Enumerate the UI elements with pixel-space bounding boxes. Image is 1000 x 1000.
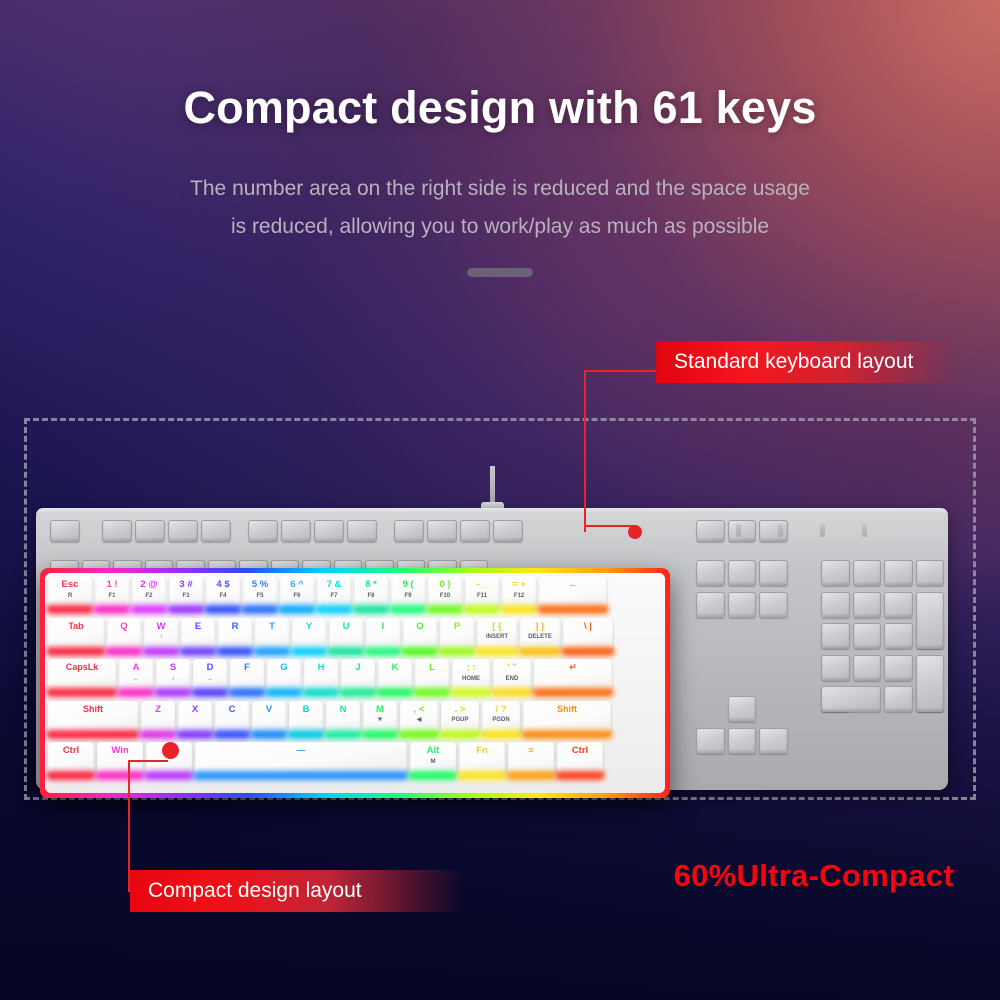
- key-legend: K: [392, 663, 399, 673]
- key-glow: [339, 688, 377, 697]
- fullsize-key-numpad: [821, 560, 850, 586]
- keycap-row-1: EscR1 !F12 @F23 #F34 $F45 %F56 ^F67 &F78…: [48, 576, 607, 610]
- key-sublegend: ↓: [172, 676, 175, 682]
- key-h[interactable]: H: [304, 659, 338, 693]
- fullsize-key-numpad-plus: [916, 592, 945, 650]
- key-glow: [315, 605, 353, 614]
- key-glow: [413, 688, 451, 697]
- key-sublegend: HOME: [462, 676, 480, 682]
- key-glow: [265, 688, 303, 697]
- fullsize-key-numpad-zero: [821, 686, 881, 712]
- key-legend: O: [416, 622, 423, 632]
- key-t[interactable]: T: [255, 618, 289, 652]
- key-glow: [130, 605, 168, 614]
- key-n[interactable]: N: [326, 701, 360, 735]
- key-[interactable]: —: [195, 742, 407, 776]
- key-6[interactable]: 6 ^F6: [280, 576, 314, 610]
- key-glow: [401, 647, 439, 656]
- key-glow: [105, 647, 143, 656]
- key-glow: [361, 730, 399, 739]
- key-shift[interactable]: Shift: [48, 701, 138, 735]
- key-sublegend: END: [506, 676, 519, 682]
- callout-compact-layout: Compact design layout: [130, 870, 462, 912]
- key-glow: [398, 730, 440, 739]
- key-legend: Fn: [476, 746, 488, 756]
- key-legend: U: [343, 622, 350, 632]
- key-sublegend: F10: [440, 593, 450, 599]
- key-legend: Ctrl: [572, 746, 588, 756]
- key-legend: E: [195, 622, 201, 632]
- key-legend: L: [429, 663, 435, 673]
- key-v[interactable]: V: [252, 701, 286, 735]
- key-sublegend: INSERT: [486, 634, 508, 640]
- key-glow: [475, 647, 519, 656]
- key-u[interactable]: U: [329, 618, 363, 652]
- key-glow: [46, 730, 140, 739]
- fullsize-key-nav: [728, 592, 757, 618]
- key-[interactable]: ' "END: [493, 659, 531, 693]
- key-legend: 1 !: [106, 580, 117, 590]
- key-f[interactable]: F: [230, 659, 264, 693]
- fullsize-key-nav: [696, 520, 725, 542]
- key-s[interactable]: S↓: [156, 659, 190, 693]
- fullsize-key-nav: [696, 560, 725, 586]
- sixty-percent-keyboard: EscR1 !F12 @F23 #F34 $F45 %F56 ^F67 &F78…: [40, 568, 670, 798]
- key-sublegend: F5: [256, 593, 263, 599]
- fullsize-key-nav: [696, 592, 725, 618]
- key-legend: B: [303, 705, 310, 715]
- fullsize-key-nav: [728, 560, 757, 586]
- key-legend: Shift: [83, 705, 103, 714]
- key-glow: [426, 605, 464, 614]
- fullsize-keyboard-lip: [36, 508, 948, 515]
- fullsize-key-nav: [759, 520, 788, 542]
- key-ctrl[interactable]: Ctrl: [48, 742, 94, 776]
- key-glow: [457, 771, 507, 780]
- key-sublegend: DELETE: [528, 634, 552, 640]
- key-[interactable]: \ |: [563, 618, 613, 652]
- key-legend: W: [157, 622, 166, 632]
- page-subtitle: The number area on the right side is red…: [0, 170, 1000, 246]
- fullsize-indicator-led: [862, 524, 867, 537]
- key-[interactable]: - _F11: [465, 576, 499, 610]
- key-legend: - _: [476, 580, 487, 590]
- key-b[interactable]: B: [289, 701, 323, 735]
- key-9[interactable]: 9 (F9: [391, 576, 425, 610]
- key-glow: [389, 605, 427, 614]
- key-sublegend: →: [207, 676, 213, 682]
- fullsize-key-numpad-enter: [916, 655, 945, 713]
- key-legend: I: [382, 622, 385, 632]
- fullsize-key-numpad: [884, 623, 913, 649]
- key-glow: [46, 647, 106, 656]
- key-legend: Alt: [427, 746, 440, 756]
- key-glow: [518, 647, 562, 656]
- callout-standard-layout-label: Standard keyboard layout: [674, 350, 913, 374]
- key-sublegend: ◀: [417, 717, 422, 723]
- key-[interactable]: = +F12: [502, 576, 536, 610]
- key-glow: [555, 771, 605, 780]
- key-glow: [46, 688, 118, 697]
- key-sublegend: PGUP: [451, 717, 468, 723]
- key-legend: ≡: [528, 746, 534, 756]
- fullsize-indicator-led: [778, 524, 783, 537]
- key-legend: T: [269, 622, 275, 632]
- key-0[interactable]: 0 )F10: [428, 576, 462, 610]
- key-d[interactable]: D→: [193, 659, 227, 693]
- key-sublegend: F11: [477, 593, 487, 599]
- fullsize-key-function: [493, 520, 523, 542]
- key-legend: Shift: [557, 705, 577, 714]
- key-glow: [537, 605, 609, 614]
- fullsize-key-function: [248, 520, 278, 542]
- key-[interactable]: ←: [539, 576, 607, 610]
- key-4[interactable]: 4 $F4: [206, 576, 240, 610]
- key-legend: 6 ^: [290, 580, 303, 590]
- key-legend: 8 *: [365, 580, 377, 590]
- keycap-row-2: TabQW↑ERTYUIOP[ {INSERT] }DELETE\ |: [48, 618, 613, 652]
- key-glow: [352, 605, 390, 614]
- key-glow: [241, 605, 279, 614]
- fullsize-key-nav: [728, 520, 757, 542]
- key-3[interactable]: 3 #F3: [169, 576, 203, 610]
- fullsize-key-esc: [50, 520, 80, 542]
- key-legend: J: [355, 663, 360, 673]
- key-[interactable]: , <◀: [400, 701, 438, 735]
- callout-standard-layout: Standard keyboard layout: [656, 341, 958, 383]
- key-glow: [278, 605, 316, 614]
- key-legend: P: [454, 622, 460, 632]
- key-sublegend: F12: [514, 593, 524, 599]
- key-fn[interactable]: Fn: [459, 742, 505, 776]
- key-legend: 0 ): [439, 580, 450, 590]
- fullsize-key-numpad: [884, 655, 913, 681]
- key-legend: 5 %: [252, 580, 268, 590]
- key-glow: [142, 647, 180, 656]
- fullsize-indicator-led: [736, 524, 741, 537]
- key-glow: [450, 688, 492, 697]
- key-[interactable]: / ?PGDN: [482, 701, 520, 735]
- key-legend: N: [340, 705, 347, 715]
- key-glow: [290, 647, 328, 656]
- fullsize-key-numpad: [821, 623, 850, 649]
- key-glow: [204, 605, 242, 614]
- key-w[interactable]: W↑: [144, 618, 178, 652]
- key-legend: [ {: [492, 622, 502, 632]
- key-glow: [95, 771, 145, 780]
- key-glow: [93, 605, 131, 614]
- fullsize-key-arrow: [728, 728, 757, 754]
- header-divider: [467, 268, 533, 277]
- key-legend: —: [297, 746, 306, 755]
- key-glow: [179, 647, 217, 656]
- key-sublegend: F2: [145, 593, 152, 599]
- key-glow: [176, 730, 214, 739]
- fullsize-key-function: [135, 520, 165, 542]
- key-glow: [376, 688, 414, 697]
- key-capslk[interactable]: CapsLk: [48, 659, 116, 693]
- key-glow: [117, 688, 155, 697]
- key-legend: Tab: [68, 622, 83, 631]
- key-legend: Esc: [62, 580, 79, 590]
- key-glow: [324, 730, 362, 739]
- key-legend: C: [229, 705, 236, 715]
- key-ctrl[interactable]: Ctrl: [557, 742, 603, 776]
- bottom-callout-leader-stub: [128, 760, 168, 762]
- key-win[interactable]: Win: [97, 742, 143, 776]
- fullsize-key-numpad: [916, 560, 945, 586]
- key-esc[interactable]: EscR: [48, 576, 92, 610]
- key-sublegend: F7: [330, 593, 337, 599]
- top-callout-dot: [628, 525, 642, 539]
- fullsize-key-numpad: [884, 560, 913, 586]
- key-m[interactable]: M☀: [363, 701, 397, 735]
- key-8[interactable]: 8 *F8: [354, 576, 388, 610]
- key-glow: [327, 647, 365, 656]
- key-glow: [213, 730, 251, 739]
- fullsize-key-function: [394, 520, 424, 542]
- key-legend: Q: [120, 622, 127, 632]
- key-glow: [521, 730, 613, 739]
- key-legend: R: [232, 622, 239, 632]
- top-callout-leader-vertical: [584, 370, 586, 532]
- key-legend: X: [192, 705, 198, 715]
- product-marketing-image: Compact design with 61 keys The number a…: [0, 0, 1000, 1000]
- key-a[interactable]: A←: [119, 659, 153, 693]
- fullsize-key-arrow: [696, 728, 725, 754]
- key-glow: [250, 730, 288, 739]
- key-[interactable]: [ {INSERT: [477, 618, 517, 652]
- page-title: Compact design with 61 keys: [0, 82, 1000, 134]
- fullsize-key-function: [314, 520, 344, 542]
- key-glow: [491, 688, 533, 697]
- key-legend: F: [244, 663, 250, 673]
- key-[interactable]: ; :HOME: [452, 659, 490, 693]
- key-j[interactable]: J: [341, 659, 375, 693]
- keycap-row-3: CapsLkA←S↓D→FGHJKL; :HOME' "END↵: [48, 659, 612, 693]
- key-legend: 2 @: [140, 580, 157, 590]
- fullsize-key-function: [168, 520, 198, 542]
- fullsize-key-nav: [759, 560, 788, 586]
- key-glow: [532, 688, 614, 697]
- key-legend: H: [318, 663, 325, 673]
- key-7[interactable]: 7 &F7: [317, 576, 351, 610]
- key-[interactable]: ≡: [508, 742, 554, 776]
- fullsize-key-function: [460, 520, 490, 542]
- key-legend: ←: [569, 580, 578, 589]
- key-glow: [154, 688, 192, 697]
- key-glow: [463, 605, 501, 614]
- key-legend: 4 $: [216, 580, 229, 590]
- key-glow: [408, 771, 458, 780]
- key-legend: = +: [512, 580, 526, 590]
- top-callout-leader-stub: [584, 525, 634, 527]
- key-legend: ↵: [569, 663, 577, 672]
- key-i[interactable]: I: [366, 618, 400, 652]
- fullsize-key-numpad: [821, 592, 850, 618]
- key-glow: [46, 605, 94, 614]
- key-legend: Z: [155, 705, 161, 715]
- fullsize-key-function: [281, 520, 311, 542]
- key-1[interactable]: 1 !F1: [95, 576, 129, 610]
- fullsize-key-numpad: [853, 655, 882, 681]
- key-glow: [144, 771, 194, 780]
- key-glow: [438, 647, 476, 656]
- key-glow: [167, 605, 205, 614]
- fullsize-key-function: [347, 520, 377, 542]
- keycap-row-4: ShiftZXCVBNM☀, <◀. >PGUP/ ?PGDNShift: [48, 701, 611, 735]
- key-legend: ] }: [535, 622, 545, 632]
- fullsize-key-nav: [759, 592, 788, 618]
- key-legend: 7 &: [327, 580, 342, 590]
- key-legend: M: [376, 705, 384, 715]
- fullsize-key-numpad: [821, 655, 850, 681]
- key-2[interactable]: 2 @F2: [132, 576, 166, 610]
- fullsize-key-numpad: [853, 592, 882, 618]
- key-sublegend: F4: [219, 593, 226, 599]
- key-glow: [480, 730, 522, 739]
- key-legend: 9 (: [402, 580, 413, 590]
- key-legend: ' ": [507, 663, 516, 673]
- ultra-compact-label: 60%Ultra-Compact: [674, 858, 954, 894]
- key-k[interactable]: K: [378, 659, 412, 693]
- key-sublegend: F9: [404, 593, 411, 599]
- key-z[interactable]: Z: [141, 701, 175, 735]
- key-glow: [139, 730, 177, 739]
- key-legend: / ?: [495, 705, 506, 715]
- key-glow: [216, 647, 254, 656]
- key-tab[interactable]: Tab: [48, 618, 104, 652]
- key-y[interactable]: Y: [292, 618, 326, 652]
- fullsize-key-numpad: [884, 592, 913, 618]
- key-p[interactable]: P: [440, 618, 474, 652]
- key-glow: [193, 771, 409, 780]
- fullsize-key-numpad: [853, 623, 882, 649]
- key-legend: Ctrl: [63, 746, 79, 756]
- key-sublegend: ☀: [377, 717, 382, 723]
- key-sublegend: F1: [108, 593, 115, 599]
- key-sublegend: R: [68, 593, 72, 599]
- key-glow: [253, 647, 291, 656]
- key-sublegend: F3: [182, 593, 189, 599]
- key-legend: 3 #: [179, 580, 192, 590]
- key-glow: [500, 605, 538, 614]
- key-legend: Win: [111, 746, 128, 756]
- key-e[interactable]: E: [181, 618, 215, 652]
- key-r[interactable]: R: [218, 618, 252, 652]
- key-sublegend: ↑: [160, 634, 163, 640]
- key-legend: G: [280, 663, 287, 673]
- key-sublegend: PGDN: [492, 717, 509, 723]
- key-glow: [506, 771, 556, 780]
- fullsize-key-function: [427, 520, 457, 542]
- key-[interactable]: ] }DELETE: [520, 618, 560, 652]
- key-c[interactable]: C: [215, 701, 249, 735]
- key-glow: [302, 688, 340, 697]
- key-[interactable]: ↵: [534, 659, 612, 693]
- key-legend: , <: [414, 705, 425, 715]
- key-l[interactable]: L: [415, 659, 449, 693]
- fullsize-key-numpad: [884, 686, 913, 712]
- fullsize-key-arrow: [759, 728, 788, 754]
- key-g[interactable]: G: [267, 659, 301, 693]
- key-alt[interactable]: AltM: [410, 742, 456, 776]
- key-sublegend: M: [431, 759, 436, 765]
- key-sublegend: F8: [367, 593, 374, 599]
- key-legend: . >: [455, 705, 466, 715]
- key-[interactable]: . >PGUP: [441, 701, 479, 735]
- compact-callout-dot: [162, 742, 179, 759]
- key-glow: [561, 647, 615, 656]
- key-legend: ; :: [467, 663, 476, 673]
- key-glow: [46, 771, 96, 780]
- fullsize-key-function: [201, 520, 231, 542]
- fullsize-key-numpad: [853, 560, 882, 586]
- key-sublegend: F6: [293, 593, 300, 599]
- fullsize-indicator-led: [820, 524, 825, 537]
- key-legend: \ |: [584, 622, 592, 632]
- top-callout-leader-horizontal: [584, 370, 658, 372]
- key-5[interactable]: 5 %F5: [243, 576, 277, 610]
- key-sublegend: ←: [133, 676, 139, 682]
- fullsize-key-arrow-up: [728, 696, 757, 722]
- key-legend: D: [207, 663, 214, 673]
- key-q[interactable]: Q: [107, 618, 141, 652]
- subtitle-line-2: is reduced, allowing you to work/play as…: [0, 208, 1000, 246]
- key-glow: [364, 647, 402, 656]
- subtitle-line-1: The number area on the right side is red…: [0, 170, 1000, 208]
- key-legend: Y: [306, 622, 312, 632]
- key-o[interactable]: O: [403, 618, 437, 652]
- key-legend: S: [170, 663, 176, 673]
- fullsize-key-function: [102, 520, 132, 542]
- key-glow: [191, 688, 229, 697]
- key-legend: V: [266, 705, 272, 715]
- key-x[interactable]: X: [178, 701, 212, 735]
- key-legend: CapsLk: [66, 663, 99, 672]
- callout-compact-layout-label: Compact design layout: [148, 879, 362, 903]
- key-glow: [287, 730, 325, 739]
- keycap-row-5: CtrlWinAlt—AltMFn≡Ctrl: [48, 742, 603, 776]
- key-glow: [228, 688, 266, 697]
- key-legend: A: [133, 663, 140, 673]
- key-shift[interactable]: Shift: [523, 701, 611, 735]
- key-glow: [439, 730, 481, 739]
